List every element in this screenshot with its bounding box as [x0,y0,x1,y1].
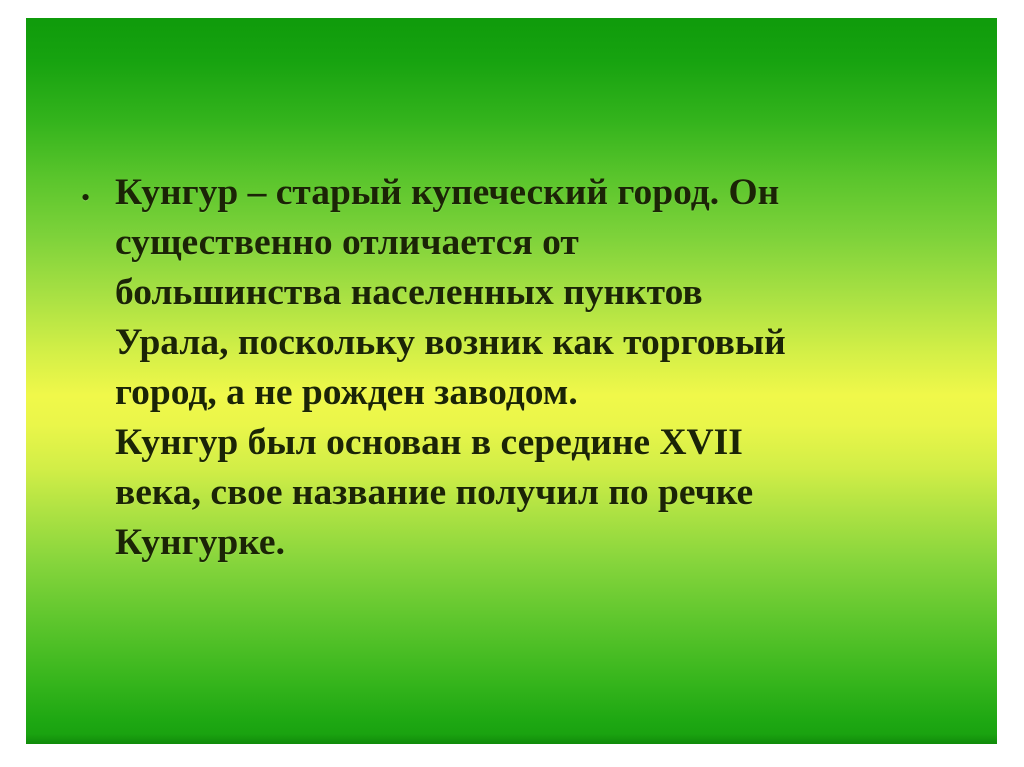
slide-content-placeholder[interactable]: • Кунгур – старый купеческий город. Он с… [81,168,961,569]
list-item[interactable]: • Кунгур – старый купеческий город. Он с… [81,168,961,569]
slide-canvas: • Кунгур – старый купеческий город. Он с… [0,0,1024,767]
bullet-body-text: Кунгур – старый купеческий город. Он сущ… [115,168,961,569]
bullet-point-icon: • [81,168,115,211]
slide-background: • Кунгур – старый купеческий город. Он с… [26,18,997,744]
